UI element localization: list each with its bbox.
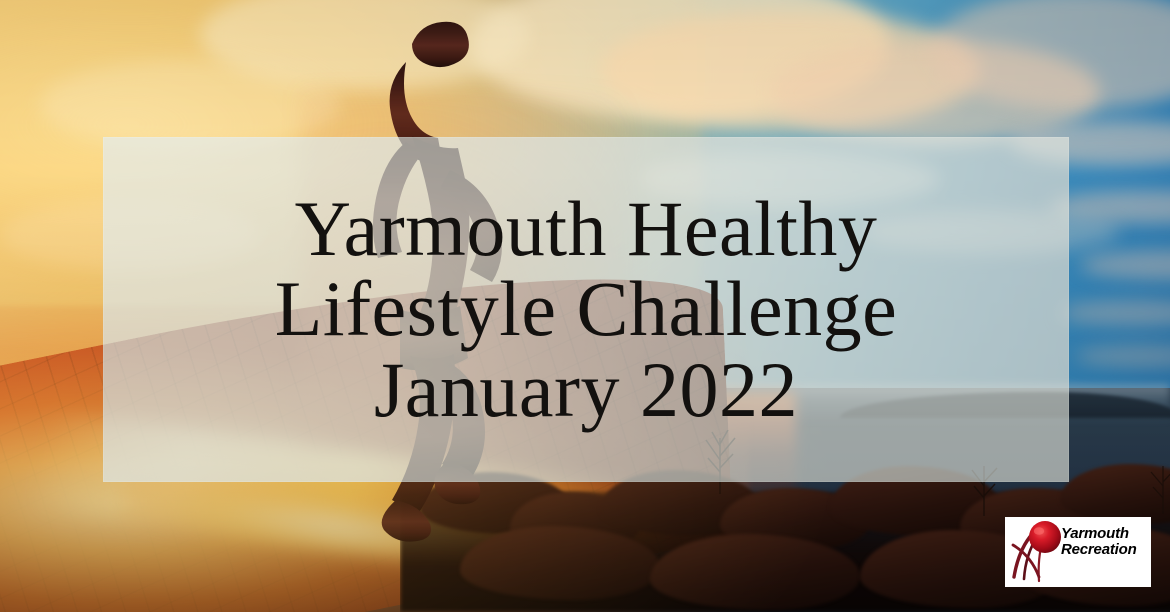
cloud	[1080, 250, 1170, 280]
cloud	[1075, 345, 1170, 367]
promo-banner: Yarmouth Healthy Lifestyle Challenge Jan…	[0, 0, 1170, 612]
bare-twig-icon	[1140, 458, 1170, 514]
logo-wordmark: Yarmouth Recreation	[1061, 526, 1149, 558]
title-line-2: Lifestyle Challenge	[275, 271, 897, 347]
logo-line-2: Recreation	[1061, 542, 1149, 558]
title-line-1: Yarmouth Healthy	[295, 191, 878, 267]
title-line-3: January 2022	[374, 352, 798, 428]
logo-line-1: Yarmouth	[1061, 526, 1149, 542]
cloud	[1060, 300, 1170, 326]
yarmouth-recreation-logo[interactable]: Yarmouth Recreation	[1005, 517, 1151, 587]
page-title: Yarmouth Healthy Lifestyle Challenge Jan…	[103, 137, 1069, 482]
